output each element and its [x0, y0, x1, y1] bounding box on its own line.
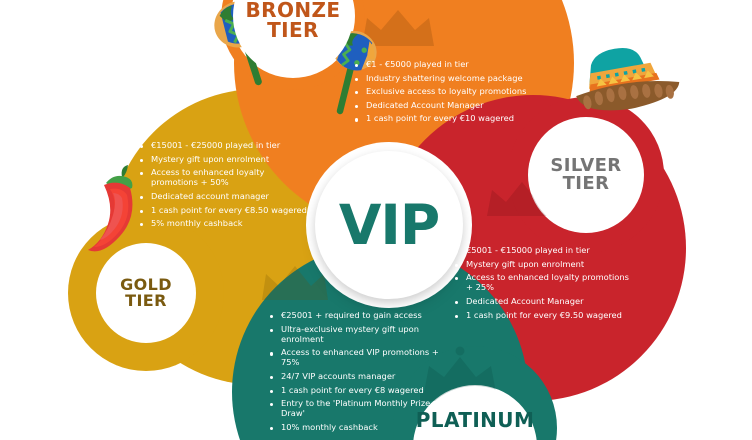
benefit-item: €15001 - €25000 played in tier [140, 140, 308, 150]
benefit-item: 5% monthly cashback [140, 218, 308, 228]
benefit-item: 10% monthly cashback [270, 422, 450, 432]
benefit-item: Mystery gift upon enrolment [455, 259, 630, 269]
benefit-item: Access to enhanced VIP promotions + 75% [270, 347, 450, 367]
tier-label-silver-line2: TIER [550, 175, 621, 193]
vip-label: VIP [339, 198, 439, 253]
benefits-list-gold: €15001 - €25000 played in tierMystery gi… [140, 140, 308, 232]
benefits-list-platinum: €25001 + required to gain accessUltra-ex… [270, 310, 450, 436]
benefits-list-silver: €5001 - €15000 played in tierMystery gif… [455, 245, 630, 323]
benefit-item: 1 cash point for every €10 wagered [355, 113, 535, 123]
benefit-item: Access to enhanced loyalty promotions + … [455, 272, 630, 292]
tier-label-bronze-line1: BRONZE [246, 0, 341, 20]
benefit-item: €1 - €5000 played in tier [355, 59, 535, 69]
benefit-item: Industry shattering welcome package [355, 73, 535, 83]
benefit-item: Entry to the 'Platinum Monthly Prize Dra… [270, 398, 450, 418]
benefits-list-bronze: €1 - €5000 played in tierIndustry shatte… [355, 59, 535, 127]
benefit-item: Access to enhanced loyalty promotions + … [140, 167, 308, 187]
benefit-item: 1 cash point for every €8 wagered [270, 385, 450, 395]
tier-label-silver[interactable]: SILVER TIER [529, 118, 643, 232]
benefit-item: €5001 - €15000 played in tier [455, 245, 630, 255]
vip-tiers-infographic: BRONZE TIER SILVER TIER GOLD TIER PLATIN… [0, 0, 752, 440]
benefit-item: Exclusive access to loyalty promotions [355, 86, 535, 96]
benefit-item: Dedicated account manager [140, 191, 308, 201]
benefit-item: Ultra-exclusive mystery gift upon enrolm… [270, 324, 450, 344]
benefit-item: Dedicated Account Manager [355, 100, 535, 110]
benefit-item: €25001 + required to gain access [270, 310, 450, 320]
benefit-item: 1 cash point for every €9.50 wagered [455, 310, 630, 320]
benefit-item: Mystery gift upon enrolment [140, 154, 308, 164]
benefit-item: 1 cash point for every €8.50 wagered [140, 205, 308, 215]
tier-label-gold-line1: GOLD TIER [97, 277, 195, 310]
tier-label-gold[interactable]: GOLD TIER [97, 244, 195, 342]
sombrero-icon [573, 45, 683, 115]
benefit-item: Dedicated Account Manager [455, 296, 630, 306]
tier-label-bronze-line2: TIER [246, 20, 341, 40]
benefit-item: 24/7 VIP accounts manager [270, 371, 450, 381]
vip-center-badge[interactable]: VIP [315, 151, 463, 299]
